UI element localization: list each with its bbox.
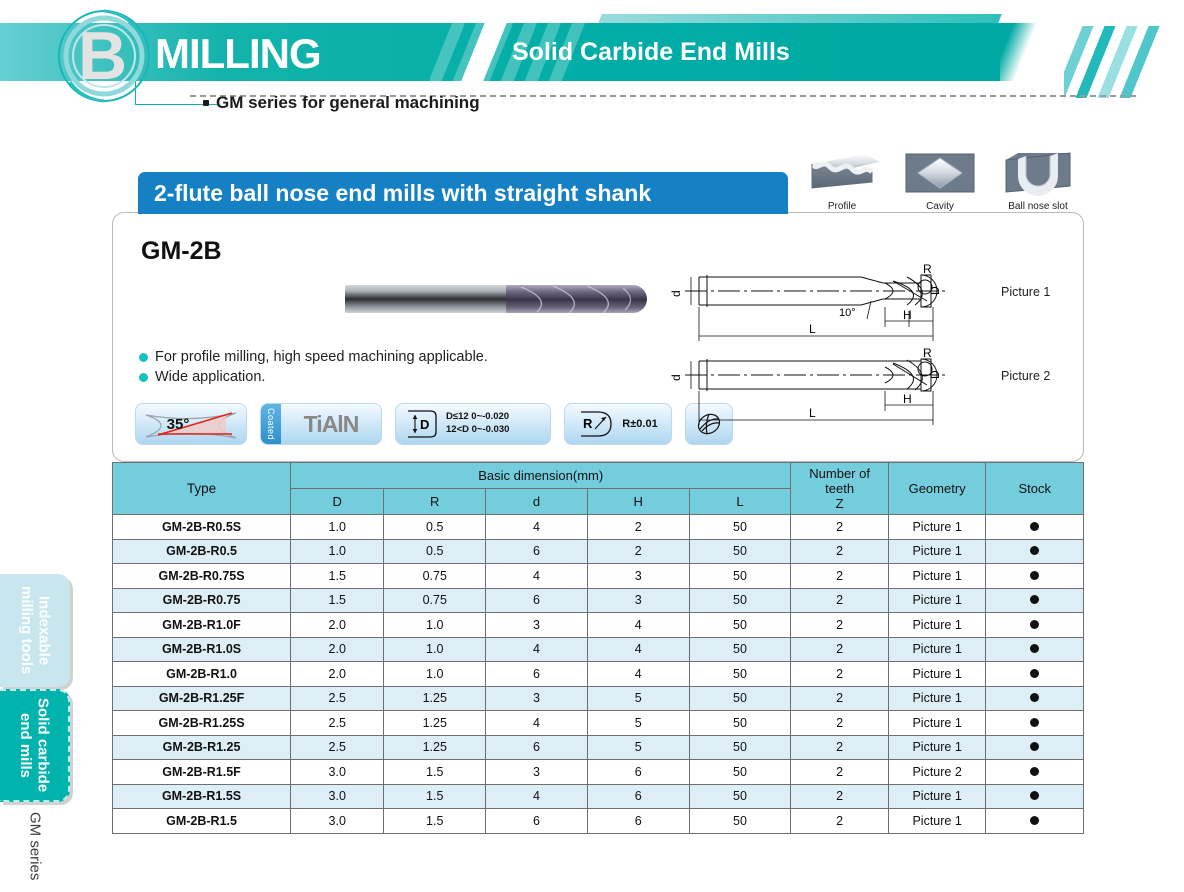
spec-badges: 35° Coated TiAlN D D≤12 0~-0.020	[135, 403, 733, 445]
cell-L: 50	[689, 711, 791, 736]
cell-stock	[986, 637, 1084, 662]
table-row: GM-2B-R0.51.00.562502Picture 1	[113, 539, 1084, 564]
badge-helix-angle: 35°	[135, 403, 247, 445]
cell-geometry: Picture 1	[888, 662, 986, 687]
cell-R: 1.0	[384, 637, 486, 662]
cell-geometry: Picture 2	[888, 760, 986, 785]
header-top-sliver	[598, 14, 1002, 23]
cell-stock	[986, 613, 1084, 638]
table-row: GM-2B-R1.0F2.01.034502Picture 1	[113, 613, 1084, 638]
header-D: D	[291, 489, 384, 515]
cell-R: 1.25	[384, 686, 486, 711]
stock-dot-icon	[1030, 742, 1039, 751]
logo-letter: B	[78, 22, 127, 90]
cell-D: 3.0	[291, 784, 384, 809]
cell-R: 1.5	[384, 784, 486, 809]
sidebar-tab-indexable-milling-tools[interactable]: Indexablemilling tools	[0, 574, 70, 687]
cell-L: 50	[689, 564, 791, 589]
cell-L: 50	[689, 588, 791, 613]
stock-dot-icon	[1030, 571, 1039, 580]
cell-type: GM-2B-R1.5S	[113, 784, 291, 809]
cell-type: GM-2B-R0.75	[113, 588, 291, 613]
cell-stock	[986, 539, 1084, 564]
cell-stock	[986, 711, 1084, 736]
cell-stock	[986, 809, 1084, 834]
stock-dot-icon	[1030, 669, 1039, 678]
cell-d: 4	[486, 515, 588, 540]
cell-R: 0.75	[384, 564, 486, 589]
catalog-page: B MILLING Solid Carbide End Mills GM ser…	[0, 0, 1184, 892]
bullet-dot-icon	[139, 373, 148, 382]
cell-R: 1.25	[384, 735, 486, 760]
header-L: L	[689, 489, 791, 515]
header-teeth-line2: teeth	[793, 481, 886, 496]
svg-text:R: R	[923, 346, 932, 360]
cell-d: 3	[486, 686, 588, 711]
cell-L: 50	[689, 539, 791, 564]
radius-symbol-icon: R	[578, 409, 614, 439]
cell-H: 2	[587, 515, 689, 540]
cell-geometry: Picture 1	[888, 613, 986, 638]
cell-d: 4	[486, 711, 588, 736]
header-stock: Stock	[986, 463, 1084, 515]
stock-dot-icon	[1030, 767, 1039, 776]
ball-nose-slot-icon	[996, 148, 1080, 198]
cell-L: 50	[689, 735, 791, 760]
feature-item: Wide application.	[139, 369, 488, 385]
sidebar-tab-label: Solid carbideend mills	[17, 698, 52, 792]
cell-H: 6	[587, 809, 689, 834]
badge-radius-tolerance: R R±0.01	[564, 403, 672, 445]
cell-R: 0.75	[384, 588, 486, 613]
cell-L: 50	[689, 515, 791, 540]
section-title-banner: 2-flute ball nose end mills with straigh…	[138, 172, 788, 214]
caption-bullet-marker	[203, 100, 209, 106]
sidebar-tab-label: Indexablemilling tools	[18, 586, 53, 674]
cell-D: 1.0	[291, 539, 384, 564]
cell-L: 50	[689, 784, 791, 809]
cell-D: 2.0	[291, 637, 384, 662]
radius-tolerance-value: R±0.01	[622, 418, 657, 430]
feature-item: For profile milling, high speed machinin…	[139, 349, 488, 365]
table-row: GM-2B-R1.53.01.566502Picture 1	[113, 809, 1084, 834]
cell-H: 3	[587, 588, 689, 613]
cell-stock	[986, 760, 1084, 785]
table-header: Type Basic dimension(mm) Number of teeth…	[113, 463, 1084, 515]
bullet-dot-icon	[139, 353, 148, 362]
stock-dot-icon	[1030, 522, 1039, 531]
cell-Z: 2	[791, 809, 889, 834]
cell-H: 3	[587, 564, 689, 589]
cell-stock	[986, 515, 1084, 540]
application-icon-ball-nose-slot: Ball nose slot	[996, 148, 1080, 220]
stock-dot-icon	[1030, 693, 1039, 702]
svg-text:R: R	[583, 416, 593, 431]
cell-D: 1.5	[291, 588, 384, 613]
coated-label: Coated	[266, 408, 276, 440]
header-H: H	[587, 489, 689, 515]
cell-d: 4	[486, 637, 588, 662]
cell-R: 1.25	[384, 711, 486, 736]
table-row: GM-2B-R1.25F2.51.2535502Picture 1	[113, 686, 1084, 711]
stock-dot-icon	[1030, 546, 1039, 555]
table-row: GM-2B-R0.5S1.00.542502Picture 1	[113, 515, 1084, 540]
cell-R: 0.5	[384, 515, 486, 540]
cell-L: 50	[689, 613, 791, 638]
cell-Z: 2	[791, 784, 889, 809]
cell-R: 0.5	[384, 539, 486, 564]
cell-d: 6	[486, 735, 588, 760]
cell-R: 1.0	[384, 613, 486, 638]
cell-geometry: Picture 1	[888, 515, 986, 540]
stock-dot-icon	[1030, 644, 1039, 653]
cell-Z: 2	[791, 515, 889, 540]
table-row: GM-2B-R1.02.01.064502Picture 1	[113, 662, 1084, 687]
cell-D: 2.5	[291, 711, 384, 736]
cell-Z: 2	[791, 686, 889, 711]
cell-stock	[986, 735, 1084, 760]
cell-geometry: Picture 1	[888, 564, 986, 589]
header-category-title: MILLING	[155, 30, 321, 78]
cell-H: 5	[587, 711, 689, 736]
product-feature-list: For profile milling, high speed machinin…	[139, 349, 488, 389]
table-row: GM-2B-R1.252.51.2565502Picture 1	[113, 735, 1084, 760]
cell-L: 50	[689, 637, 791, 662]
table-row: GM-2B-R0.751.50.7563502Picture 1	[113, 588, 1084, 613]
table-row: GM-2B-R1.0S2.01.044502Picture 1	[113, 637, 1084, 662]
cell-d: 3	[486, 613, 588, 638]
cell-H: 2	[587, 539, 689, 564]
cell-D: 3.0	[291, 809, 384, 834]
cell-geometry: Picture 1	[888, 735, 986, 760]
cell-type: GM-2B-R1.0S	[113, 637, 291, 662]
cell-D: 3.0	[291, 760, 384, 785]
header-R: R	[384, 489, 486, 515]
cell-d: 6	[486, 588, 588, 613]
cell-D: 1.0	[291, 515, 384, 540]
sidebar-series-label[interactable]: GM series	[0, 806, 70, 886]
cell-d: 6	[486, 809, 588, 834]
cell-L: 50	[689, 809, 791, 834]
svg-text:L: L	[809, 322, 816, 336]
cell-Z: 2	[791, 613, 889, 638]
application-icon-label: Profile	[800, 201, 884, 212]
technical-drawing-picture-2: d D R H L Picture 2	[671, 345, 1091, 435]
stock-dot-icon	[1030, 595, 1039, 604]
application-icon-profile: Profile	[800, 148, 884, 220]
cell-H: 6	[587, 760, 689, 785]
header-corner-stripes	[1064, 26, 1170, 98]
cell-stock	[986, 588, 1084, 613]
svg-text:R: R	[923, 262, 932, 276]
table-body: GM-2B-R0.5S1.00.542502Picture 1GM-2B-R0.…	[113, 515, 1084, 834]
svg-text:D: D	[928, 370, 942, 379]
table-row: GM-2B-R1.25S2.51.2545502Picture 1	[113, 711, 1084, 736]
stock-dot-icon	[1030, 718, 1039, 727]
header-teeth-line3: Z	[793, 496, 886, 511]
application-icon-cavity: Cavity	[898, 148, 982, 220]
diameter-symbol-icon: D	[404, 408, 438, 440]
helix-angle-value: 35°	[167, 416, 190, 433]
application-icons: Profile Cavity	[800, 148, 1080, 220]
svg-text:H: H	[903, 308, 912, 322]
cell-geometry: Picture 1	[888, 711, 986, 736]
table-row: GM-2B-R1.5S3.01.546502Picture 1	[113, 784, 1084, 809]
svg-text:d: d	[671, 374, 683, 381]
cell-geometry: Picture 1	[888, 809, 986, 834]
cell-H: 4	[587, 662, 689, 687]
cell-Z: 2	[791, 539, 889, 564]
cell-type: GM-2B-R0.5	[113, 539, 291, 564]
cell-R: 1.5	[384, 760, 486, 785]
cell-L: 50	[689, 686, 791, 711]
product-photo	[341, 277, 661, 323]
feature-text: For profile milling, high speed machinin…	[155, 349, 488, 365]
series-caption: GM series for general machining	[216, 93, 480, 113]
cell-Z: 2	[791, 760, 889, 785]
cell-type: GM-2B-R1.25	[113, 735, 291, 760]
cell-geometry: Picture 1	[888, 784, 986, 809]
application-icon-label: Cavity	[898, 201, 982, 212]
cell-geometry: Picture 1	[888, 686, 986, 711]
cell-stock	[986, 662, 1084, 687]
cell-geometry: Picture 1	[888, 588, 986, 613]
tolerance-line-2: 12<D 0~-0.030	[446, 424, 509, 437]
cell-type: GM-2B-R1.5	[113, 809, 291, 834]
header-subtitle: Solid Carbide End Mills	[512, 38, 790, 67]
header-geometry: Geometry	[888, 463, 986, 515]
cell-Z: 2	[791, 588, 889, 613]
stock-dot-icon	[1030, 791, 1039, 800]
cell-d: 6	[486, 539, 588, 564]
svg-text:D: D	[420, 417, 429, 432]
header-d: d	[486, 489, 588, 515]
cell-L: 50	[689, 760, 791, 785]
header-basic-dimension: Basic dimension(mm)	[291, 463, 791, 489]
cell-H: 4	[587, 613, 689, 638]
cell-stock	[986, 784, 1084, 809]
cell-geometry: Picture 1	[888, 637, 986, 662]
cell-d: 4	[486, 784, 588, 809]
svg-text:D: D	[928, 286, 942, 295]
application-icon-label: Ball nose slot	[996, 201, 1080, 212]
cell-H: 6	[587, 784, 689, 809]
cell-type: GM-2B-R1.0F	[113, 613, 291, 638]
cell-type: GM-2B-R1.25S	[113, 711, 291, 736]
badge-diameter-tolerance: D D≤12 0~-0.020 12<D 0~-0.030	[395, 403, 551, 445]
table-row: GM-2B-R1.5F3.01.536502Picture 2	[113, 760, 1084, 785]
cell-stock	[986, 564, 1084, 589]
cell-D: 2.5	[291, 686, 384, 711]
cell-Z: 2	[791, 637, 889, 662]
header-teeth-line1: Number of	[793, 466, 886, 481]
cell-d: 6	[486, 662, 588, 687]
product-model-name: GM-2B	[141, 237, 222, 266]
tolerance-line-1: D≤12 0~-0.020	[446, 411, 509, 424]
logo-b-badge: B	[52, 4, 156, 108]
cell-geometry: Picture 1	[888, 539, 986, 564]
cell-H: 4	[587, 637, 689, 662]
cell-Z: 2	[791, 662, 889, 687]
cell-D: 2.0	[291, 662, 384, 687]
stock-dot-icon	[1030, 620, 1039, 629]
cell-H: 5	[587, 686, 689, 711]
badge-coating: Coated TiAlN	[260, 403, 382, 445]
cavity-icon	[898, 148, 982, 198]
svg-text:H: H	[903, 392, 912, 406]
cell-H: 5	[587, 735, 689, 760]
profile-icon	[800, 148, 884, 198]
cell-Z: 2	[791, 735, 889, 760]
technical-drawing-picture-1: d D R H L 10° Picture 1	[671, 261, 1091, 351]
cell-stock	[986, 686, 1084, 711]
cell-D: 2.0	[291, 613, 384, 638]
sidebar-series-text: GM series	[27, 812, 44, 880]
header-type: Type	[113, 463, 291, 515]
feature-text: Wide application.	[155, 369, 265, 385]
cell-type: GM-2B-R1.0	[113, 662, 291, 687]
sidebar-tab-solid-carbide-end-mills[interactable]: Solid carbideend mills	[0, 689, 70, 802]
cell-Z: 2	[791, 564, 889, 589]
cell-d: 3	[486, 760, 588, 785]
drawing-label: Picture 1	[1001, 285, 1050, 299]
svg-text:d: d	[671, 290, 683, 297]
coating-name: TiAlN	[281, 411, 381, 438]
header-number-of-teeth: Number of teeth Z	[791, 463, 889, 515]
cell-type: GM-2B-R1.5F	[113, 760, 291, 785]
svg-text:10°: 10°	[839, 307, 856, 319]
cell-R: 1.0	[384, 662, 486, 687]
coated-label-strip: Coated	[261, 404, 281, 444]
cell-Z: 2	[791, 711, 889, 736]
specification-table: Type Basic dimension(mm) Number of teeth…	[112, 462, 1084, 834]
product-card: GM-2B	[112, 212, 1084, 462]
cell-type: GM-2B-R1.25F	[113, 686, 291, 711]
cell-D: 1.5	[291, 564, 384, 589]
cell-D: 2.5	[291, 735, 384, 760]
table-row: GM-2B-R0.75S1.50.7543502Picture 1	[113, 564, 1084, 589]
stock-dot-icon	[1030, 816, 1039, 825]
cell-L: 50	[689, 662, 791, 687]
svg-text:L: L	[809, 406, 816, 420]
cell-d: 4	[486, 564, 588, 589]
drawing-label: Picture 2	[1001, 369, 1050, 383]
cell-type: GM-2B-R0.75S	[113, 564, 291, 589]
cell-R: 1.5	[384, 809, 486, 834]
cell-type: GM-2B-R0.5S	[113, 515, 291, 540]
